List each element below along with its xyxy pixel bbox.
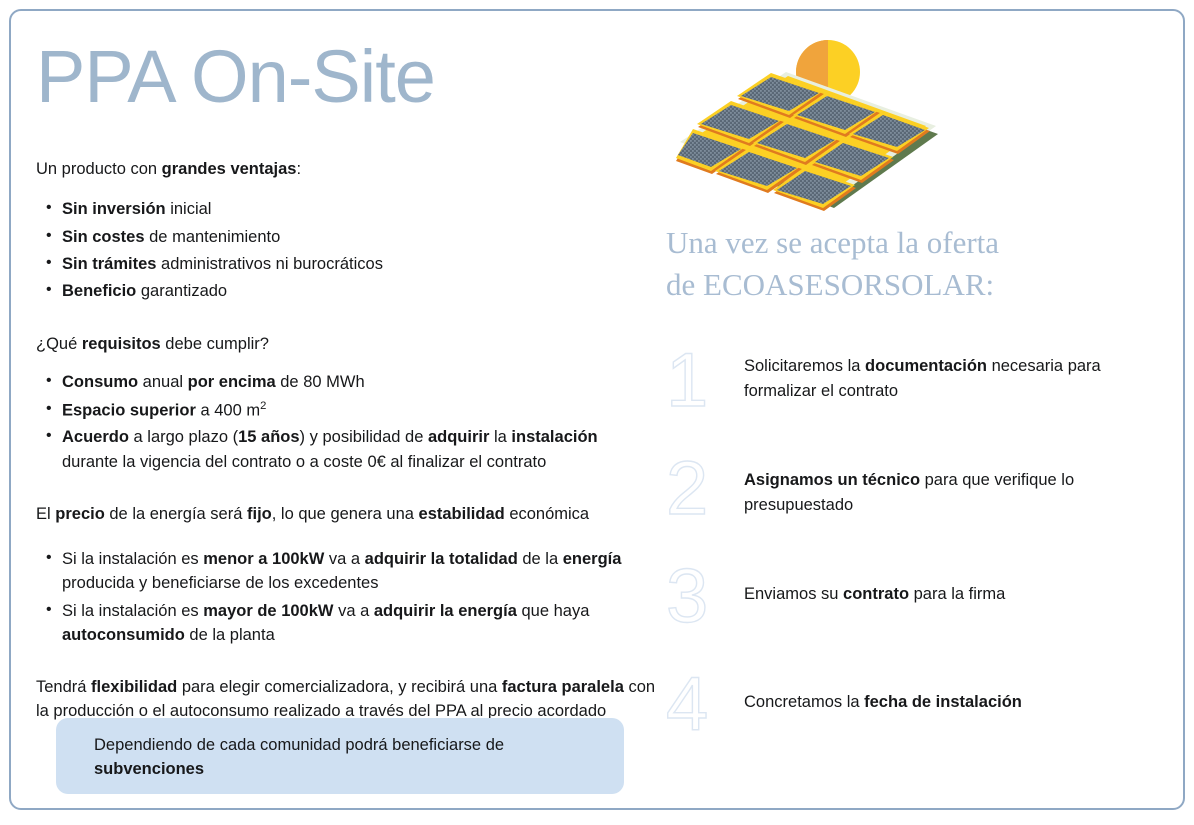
flex-a: Tendrá bbox=[36, 678, 91, 696]
requirements-list: Consumo anual por encima de 80 MWh Espac… bbox=[36, 370, 656, 474]
req-bold-2: por encima bbox=[188, 373, 276, 391]
callout-text: Dependiendo de cada comunidad podrá bene… bbox=[94, 734, 602, 782]
price-line: El precio de la energía será fijo, lo qu… bbox=[36, 503, 656, 526]
req-bold-3: adquirir bbox=[428, 428, 489, 446]
rule-g: producida y beneficiarse de los excedent… bbox=[62, 574, 378, 592]
process-heading: Una vez se acepta la oferta de ECOASESOR… bbox=[666, 222, 1166, 305]
rule-g: de la planta bbox=[185, 626, 275, 644]
intro-line: Un producto con grandes ventajas: bbox=[36, 158, 656, 181]
req-q-pre: ¿Qué bbox=[36, 335, 82, 353]
req-q-post: debe cumplir? bbox=[161, 335, 269, 353]
list-item: Sin trámites administrativos ni burocrát… bbox=[62, 252, 656, 276]
step-number-outline: 4 bbox=[666, 668, 744, 742]
req-bold-4: instalación bbox=[511, 428, 597, 446]
process-step: 2 Asignamos un técnico para que verifiqu… bbox=[666, 452, 1176, 526]
price-a: El bbox=[36, 505, 55, 523]
process-step: 3 Enviamos su contrato para la firma bbox=[666, 560, 1176, 634]
callout-bold: subvenciones bbox=[94, 760, 204, 778]
req-text-2: ) y posibilidad de bbox=[300, 428, 428, 446]
advantages-list: Sin inversión inicial Sin costes de mant… bbox=[36, 197, 656, 304]
advantage-rest: inicial bbox=[166, 200, 212, 218]
step-number-2: 2 bbox=[666, 452, 744, 526]
left-column: PPA On-Site Un producto con grandes vent… bbox=[36, 38, 656, 723]
rule-a: Si la instalación es bbox=[62, 550, 203, 568]
intro-bold: grandes ventajas bbox=[162, 160, 297, 178]
subsidy-callout: Dependiendo de cada comunidad podrá bene… bbox=[56, 718, 624, 794]
list-item: Sin inversión inicial bbox=[62, 197, 656, 221]
advantage-bold: Beneficio bbox=[62, 282, 136, 300]
intro-post: : bbox=[296, 160, 301, 178]
rule-b: menor a 100kW bbox=[203, 550, 324, 568]
advantage-rest: garantizado bbox=[136, 282, 227, 300]
req-bold-1: Consumo bbox=[62, 373, 138, 391]
heading-line-2: de ECOASESORSOLAR: bbox=[666, 264, 1166, 306]
price-f: estabilidad bbox=[419, 505, 505, 523]
req-bold-1: Acuerdo bbox=[62, 428, 129, 446]
list-item: Beneficio garantizado bbox=[62, 279, 656, 303]
price-g: económica bbox=[505, 505, 589, 523]
step-number-1: 1 bbox=[666, 344, 744, 418]
req-text-3: la bbox=[489, 428, 511, 446]
requirements-question: ¿Qué requisitos debe cumplir? bbox=[36, 333, 656, 356]
step-a: Concretamos la bbox=[744, 693, 864, 711]
req-q-bold: requisitos bbox=[82, 335, 161, 353]
req-text-1: a largo plazo ( bbox=[129, 428, 238, 446]
process-step: 4 Concretamos la fecha de instalación bbox=[666, 668, 1176, 742]
rule-c: va a bbox=[333, 602, 373, 620]
step-number-outline: 1 bbox=[666, 344, 744, 418]
advantage-rest: administrativos ni burocráticos bbox=[156, 255, 383, 273]
step-text: Solicitaremos la documentación necesaria… bbox=[744, 344, 1176, 404]
list-item: Sin costes de mantenimiento bbox=[62, 225, 656, 249]
process-steps: 1 Solicitaremos la documentación necesar… bbox=[666, 344, 1176, 742]
rule-e: que haya bbox=[517, 602, 589, 620]
flex-b: flexibilidad bbox=[91, 678, 177, 696]
step-b: contrato bbox=[843, 585, 909, 603]
price-e: , lo que genera una bbox=[272, 505, 419, 523]
callout-lead: Dependiendo de cada comunidad podrá bene… bbox=[94, 736, 504, 754]
right-column-heading: Una vez se acepta la oferta de ECOASESOR… bbox=[666, 222, 1166, 305]
req-text-4: durante la vigencia del contrato o a cos… bbox=[62, 453, 546, 471]
step-text: Enviamos su contrato para la firma bbox=[744, 560, 1176, 607]
step-b: documentación bbox=[865, 357, 987, 375]
list-item: Si la instalación es menor a 100kW va a … bbox=[62, 547, 656, 596]
rule-f: energía bbox=[563, 550, 622, 568]
step-number-4: 4 bbox=[666, 668, 744, 742]
list-item: Si la instalación es mayor de 100kW va a… bbox=[62, 599, 656, 648]
rule-d: adquirir la totalidad bbox=[365, 550, 518, 568]
flexibility-line: Tendrá flexibilidad para elegir comercia… bbox=[36, 676, 656, 723]
req-text-1: a 400 m bbox=[196, 401, 260, 419]
superscript-two: 2 bbox=[260, 400, 266, 412]
rule-c: va a bbox=[324, 550, 364, 568]
step-number-outline: 2 bbox=[666, 452, 744, 526]
intro-pre: Un producto con bbox=[36, 160, 162, 178]
req-text-2: de 80 MWh bbox=[276, 373, 365, 391]
power-rules-list: Si la instalación es menor a 100kW va a … bbox=[36, 547, 656, 648]
list-item: Consumo anual por encima de 80 MWh bbox=[62, 370, 656, 394]
step-c: para la firma bbox=[909, 585, 1005, 603]
solar-panel-array-icon bbox=[676, 30, 946, 220]
price-d: fijo bbox=[247, 505, 272, 523]
flex-d: factura paralela bbox=[502, 678, 624, 696]
advantage-bold: Sin costes bbox=[62, 228, 145, 246]
req-bold-1: Espacio superior bbox=[62, 401, 196, 419]
req-text-1: anual bbox=[138, 373, 188, 391]
step-text: Asignamos un técnico para que verifique … bbox=[744, 452, 1176, 518]
rule-b: mayor de 100kW bbox=[203, 602, 333, 620]
rule-e: de la bbox=[518, 550, 563, 568]
heading-line-1: Una vez se acepta la oferta bbox=[666, 222, 1166, 264]
page-title: PPA On-Site bbox=[36, 38, 656, 116]
advantage-bold: Sin inversión bbox=[62, 200, 166, 218]
poster-page: PPA On-Site Un producto con grandes vent… bbox=[0, 0, 1194, 825]
rule-f: autoconsumido bbox=[62, 626, 185, 644]
flex-c: para elegir comercializadora, y recibirá… bbox=[177, 678, 502, 696]
rule-d: adquirir la energía bbox=[374, 602, 517, 620]
step-text: Concretamos la fecha de instalación bbox=[744, 668, 1176, 715]
step-a: Solicitaremos la bbox=[744, 357, 865, 375]
list-item: Acuerdo a largo plazo (15 años) y posibi… bbox=[62, 425, 656, 474]
list-item: Espacio superior a 400 m2 bbox=[62, 398, 656, 423]
rule-a: Si la instalación es bbox=[62, 602, 203, 620]
process-step: 1 Solicitaremos la documentación necesar… bbox=[666, 344, 1176, 418]
step-a: Enviamos su bbox=[744, 585, 843, 603]
step-b: fecha de instalación bbox=[864, 693, 1022, 711]
step-number-outline: 3 bbox=[666, 560, 744, 634]
price-c: de la energía será bbox=[105, 505, 247, 523]
req-bold-2: 15 años bbox=[238, 428, 299, 446]
step-number-3: 3 bbox=[666, 560, 744, 634]
advantage-bold: Sin trámites bbox=[62, 255, 156, 273]
advantage-rest: de mantenimiento bbox=[145, 228, 281, 246]
step-b: Asignamos un técnico bbox=[744, 471, 920, 489]
price-b: precio bbox=[55, 505, 105, 523]
